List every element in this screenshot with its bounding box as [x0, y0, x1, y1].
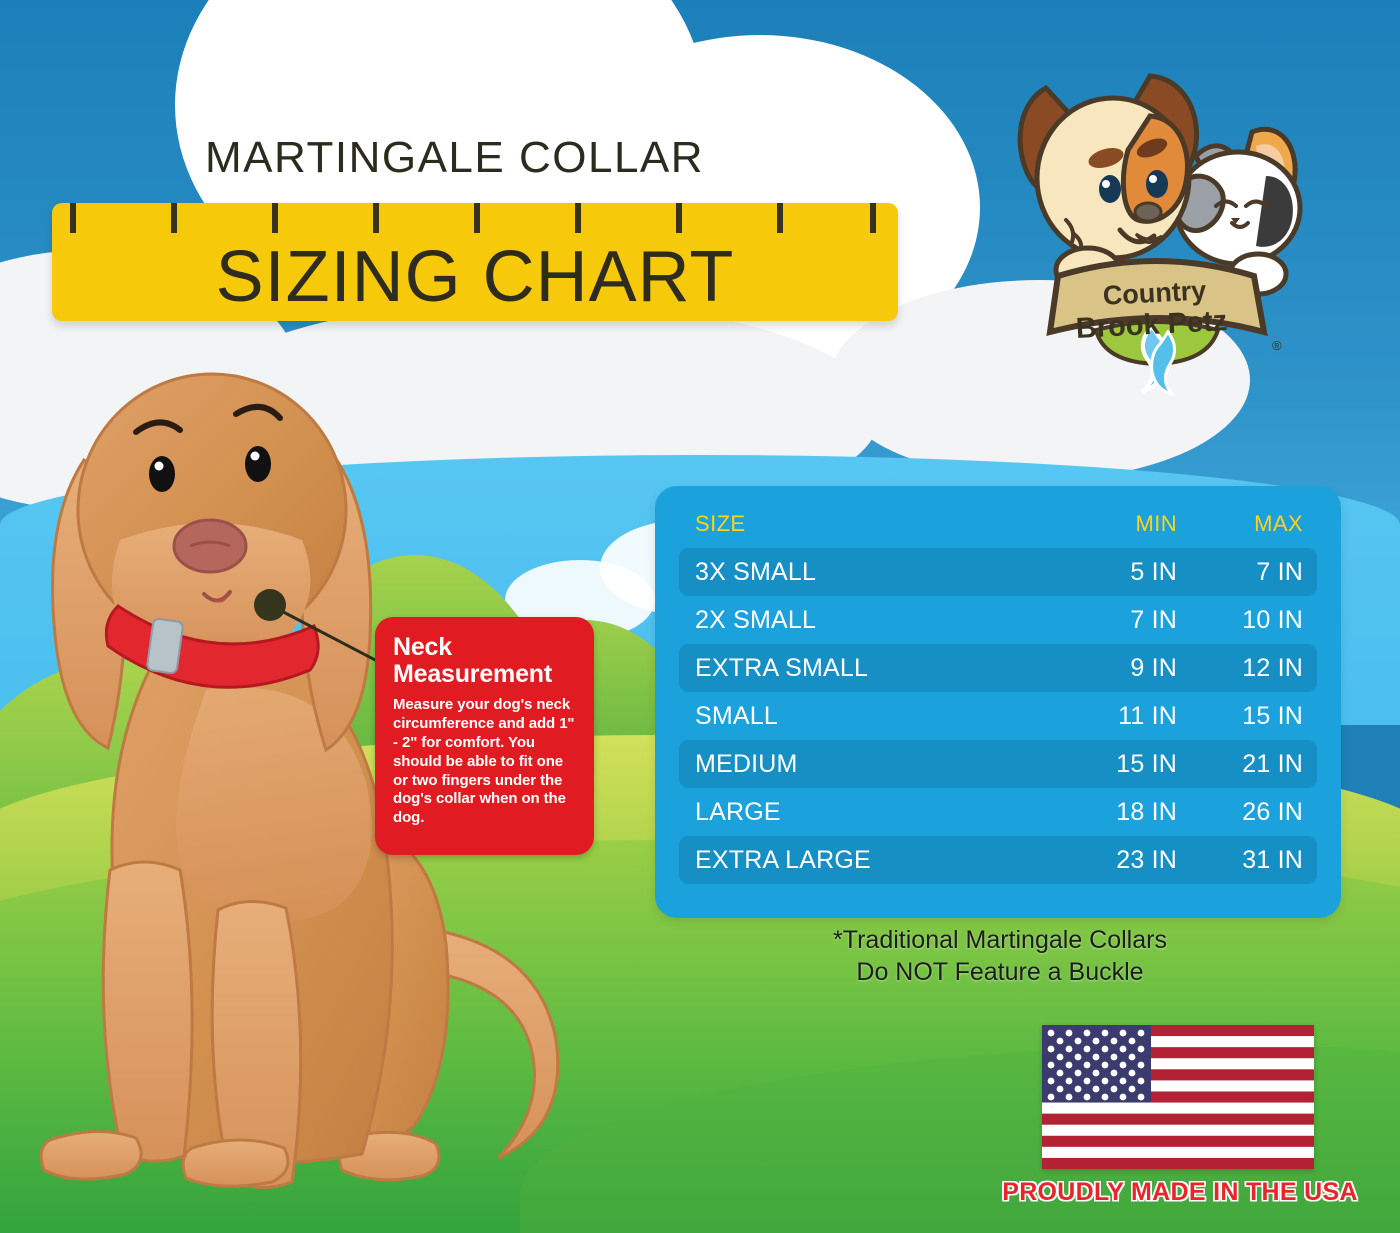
cell-min: 18 IN: [1029, 798, 1177, 827]
cell-min: 9 IN: [1029, 654, 1177, 683]
cell-max: 15 IN: [1177, 702, 1303, 731]
usa-flag-icon: [1042, 1025, 1314, 1169]
callout-heading: Neck Measurement: [393, 634, 578, 687]
cell-size: LARGE: [695, 798, 1029, 827]
column-header-size: SIZE: [695, 511, 1029, 537]
cell-max: 12 IN: [1177, 654, 1303, 683]
connector-dot: [254, 589, 286, 621]
cell-min: 15 IN: [1029, 750, 1177, 779]
column-header-min: MIN: [1029, 511, 1177, 537]
ruler-tick: [870, 203, 876, 233]
cell-size: 2X SMALL: [695, 606, 1029, 635]
table-row: 2X SMALL 7 IN 10 IN: [679, 596, 1317, 644]
ruler-tick: [575, 203, 581, 233]
country-brook-petz-logo: Country Brook Petz ®: [1000, 58, 1310, 398]
cell-min: 7 IN: [1029, 606, 1177, 635]
table-row: LARGE 18 IN 26 IN: [679, 788, 1317, 836]
ruler-tick: [171, 203, 177, 233]
table-row: MEDIUM 15 IN 21 IN: [679, 740, 1317, 788]
footnote-line-1: *Traditional Martingale Collars: [660, 925, 1340, 957]
sizing-chart-banner: SIZING CHART: [52, 203, 898, 321]
cell-size: 3X SMALL: [695, 558, 1029, 587]
table-header-row: SIZE MIN MAX: [679, 500, 1317, 548]
callout-body: Measure your dog's neck circumference an…: [393, 696, 578, 828]
table-row: SMALL 11 IN 15 IN: [679, 692, 1317, 740]
ruler-tick: [676, 203, 682, 233]
sizing-table: SIZE MIN MAX 3X SMALL 5 IN 7 IN 2X SMALL…: [655, 486, 1341, 918]
logo-registered-mark: ®: [1272, 338, 1282, 353]
ruler-tick: [272, 203, 278, 233]
cell-min: 23 IN: [1029, 846, 1177, 875]
cell-size: SMALL: [695, 702, 1029, 731]
cell-max: 7 IN: [1177, 558, 1303, 587]
cell-size: MEDIUM: [695, 750, 1029, 779]
cell-max: 26 IN: [1177, 798, 1303, 827]
dog-illustration: [1020, 76, 1196, 258]
footnote-line-2: Do NOT Feature a Buckle: [660, 957, 1340, 989]
ruler-tick: [70, 203, 76, 233]
neck-measurement-callout: Neck Measurement Measure your dog's neck…: [375, 617, 594, 855]
logo-text-line1: Country: [1102, 275, 1207, 310]
dog-eye-left: [149, 456, 175, 492]
dog-eye-right: [245, 446, 271, 482]
ruler-tick: [777, 203, 783, 233]
cell-size: EXTRA SMALL: [695, 654, 1029, 683]
cell-min: 11 IN: [1029, 702, 1177, 731]
page-title-top: MARTINGALE COLLAR: [205, 133, 704, 183]
footnote: *Traditional Martingale Collars Do NOT F…: [660, 925, 1340, 988]
cell-max: 10 IN: [1177, 606, 1303, 635]
dog-front-paw-left: [41, 1131, 141, 1179]
table-row: 3X SMALL 5 IN 7 IN: [679, 548, 1317, 596]
dog-front-leg-left: [103, 862, 192, 1161]
page-title-banner: SIZING CHART: [52, 233, 898, 321]
cell-max: 31 IN: [1177, 846, 1303, 875]
ruler-tick: [373, 203, 379, 233]
dog-nose: [174, 520, 246, 572]
collar-buckle: [147, 618, 184, 674]
dog-front-paw-right: [183, 1140, 288, 1186]
ruler-tick: [474, 203, 480, 233]
table-row: EXTRA SMALL 9 IN 12 IN: [679, 644, 1317, 692]
column-header-max: MAX: [1177, 511, 1303, 537]
cell-max: 21 IN: [1177, 750, 1303, 779]
sizing-chart-infographic: MARTINGALE COLLAR SIZING CHART: [0, 0, 1400, 1233]
made-in-usa-label: PROUDLY MADE IN THE USA: [940, 1178, 1400, 1207]
dog-tail: [440, 932, 558, 1158]
table-row: EXTRA LARGE 23 IN 31 IN: [679, 836, 1317, 884]
cell-size: EXTRA LARGE: [695, 846, 1029, 875]
cell-min: 5 IN: [1029, 558, 1177, 587]
